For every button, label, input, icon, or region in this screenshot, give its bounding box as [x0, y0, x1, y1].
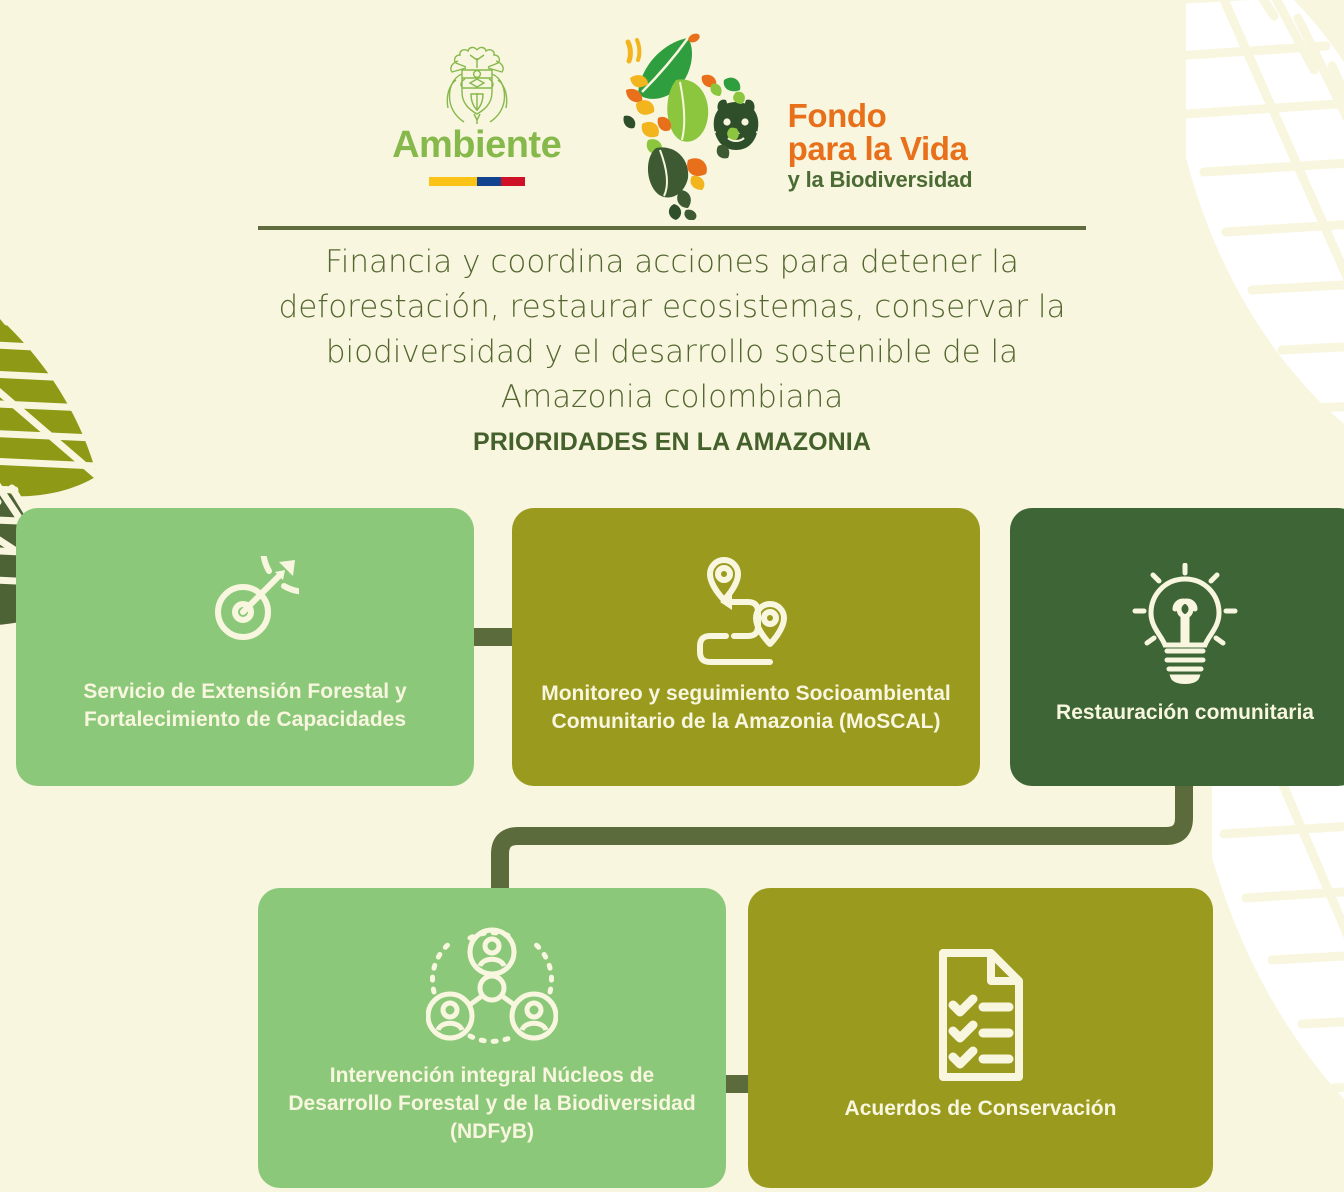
leaf-olive-left-icon	[0, 226, 182, 556]
ambiente-wordmark: Ambiente	[392, 124, 561, 167]
card-label: Monitoreo y seguimiento Socioambiental C…	[532, 680, 960, 736]
card-restauracion-comunitaria[interactable]: Restauración comunitaria	[1010, 508, 1344, 786]
ambiente-logo: Ambiente	[372, 28, 582, 186]
section-subtitle: PRIORIDADES EN LA AMAZONIA	[258, 428, 1086, 457]
header-divider	[258, 226, 1086, 230]
fondo-para-la-vida-logo: Fondo para la Vida y la Biodiversidad	[618, 28, 973, 220]
card-label: Acuerdos de Conservación	[845, 1095, 1117, 1123]
flag-red	[501, 177, 525, 186]
colombia-coat-of-arms-icon	[434, 44, 520, 126]
fondo-line-1: Fondo	[788, 99, 973, 132]
route-map-pins-icon	[686, 554, 806, 666]
connector-card3-card4	[460, 770, 1220, 900]
colombia-biodiversity-collage-icon	[618, 32, 778, 220]
card-moscal[interactable]: Monitoreo y seguimiento Socioambiental C…	[512, 508, 980, 786]
card-label: Intervención integral Núcleos de Desarro…	[278, 1062, 706, 1146]
card-label: Servicio de Extensión Forestal y Fortale…	[36, 678, 454, 734]
fondo-wordmark: Fondo para la Vida y la Biodiversidad	[788, 59, 973, 193]
card-servicio-extension-forestal[interactable]: Servicio de Extensión Forestal y Fortale…	[16, 508, 474, 786]
intro-paragraph: Financia y coordina acciones para detene…	[258, 240, 1086, 420]
document-checklist-icon	[929, 949, 1033, 1081]
card-acuerdos-conservacion[interactable]: Acuerdos de Conservación	[748, 888, 1213, 1188]
flag-yellow	[429, 177, 477, 186]
card-ndfyb[interactable]: Intervención integral Núcleos de Desarro…	[258, 888, 726, 1188]
fondo-line-3: y la Biodiversidad	[788, 167, 973, 193]
target-arrow-icon	[191, 556, 299, 664]
people-network-icon	[426, 926, 558, 1048]
lightbulb-icon	[1129, 563, 1241, 685]
fondo-line-2: para la Vida	[788, 132, 973, 165]
header: Ambiente	[0, 28, 1344, 208]
colombia-flag-bar	[429, 177, 525, 186]
card-label: Restauración comunitaria	[1056, 699, 1314, 727]
flag-blue	[477, 177, 501, 186]
